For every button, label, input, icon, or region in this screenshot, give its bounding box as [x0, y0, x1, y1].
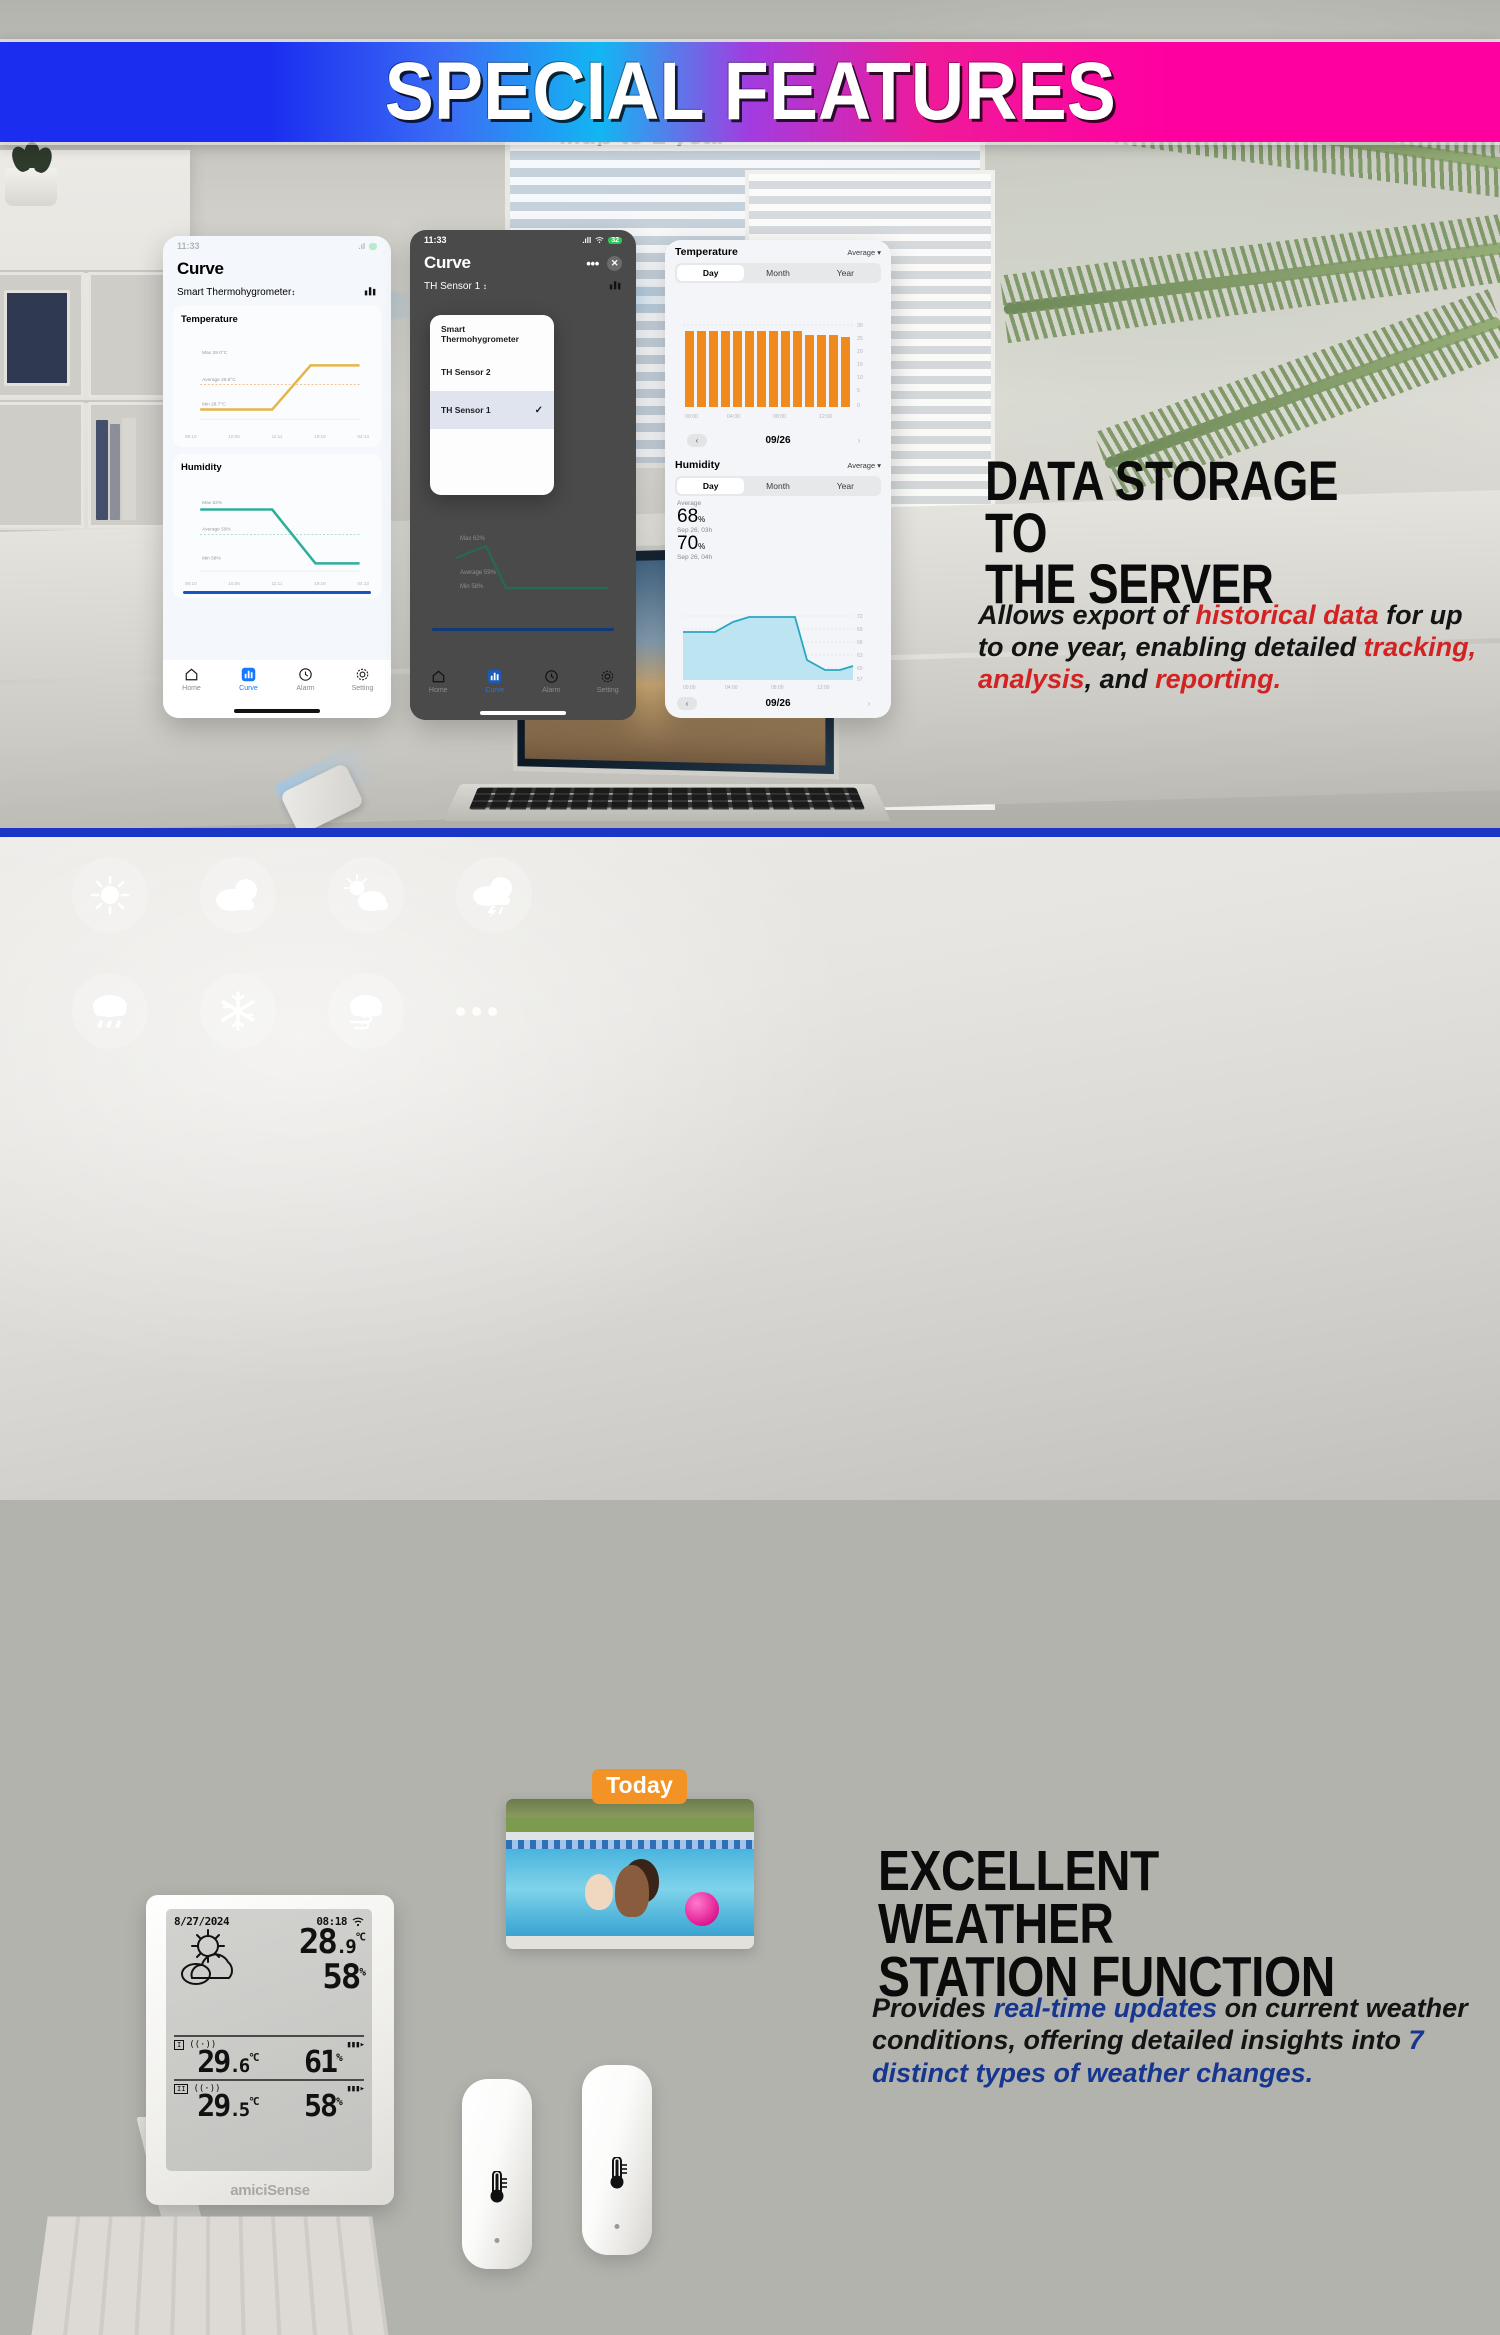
- banner-title: SPECIAL FEATURES: [384, 45, 1115, 139]
- sensor-dropdown-menu[interactable]: Smart Thermohygrometer TH Sensor 2 TH Se…: [430, 315, 554, 495]
- status-time: 11:33: [424, 235, 447, 245]
- tab-home[interactable]: Home: [415, 669, 461, 694]
- wifi-icon: [595, 236, 604, 244]
- humidity-stats-panel: Humidity Average ▾ Day Month Year: [665, 453, 891, 496]
- svg-text:72: 72: [857, 614, 863, 620]
- gear-icon: [355, 667, 370, 682]
- status-icons: .ıll 32: [582, 236, 622, 245]
- ellipsis-icon: [456, 973, 497, 1049]
- svg-text:0: 0: [857, 403, 860, 409]
- humidity-average-caption: Average: [677, 500, 879, 507]
- lcd-channel2-block: II ((·)) ▮▮▮▸ 29.5°C 58%: [174, 2079, 364, 2120]
- svg-text:10: 10: [857, 375, 863, 381]
- next-day-button[interactable]: ›: [859, 697, 879, 710]
- dropdown-item-label: TH Sensor 1: [441, 405, 491, 415]
- channel-2-icon: II: [174, 2084, 188, 2094]
- channel1-humidity: 61%: [304, 2050, 341, 2076]
- status-led: [495, 2238, 500, 2243]
- battery-icon: ▮▮▮▸: [346, 2040, 364, 2050]
- home-indicator: [234, 709, 320, 713]
- temperature-card: Temperature Max 29.0°C Average 28.8°C Mi…: [173, 306, 381, 447]
- section-divider: [0, 828, 1500, 837]
- check-icon: ✓: [535, 405, 543, 416]
- indoor-temperature: 28.9°C: [299, 1928, 364, 1957]
- hum-x-tick: 10:06: [228, 581, 240, 586]
- temp-x-tick: 10:06: [228, 434, 240, 439]
- alarm-icon: [544, 669, 559, 684]
- svg-text:69: 69: [857, 627, 863, 633]
- remote-sensor-unit: [582, 2065, 652, 2255]
- channel2-humidity: 58%: [304, 2094, 341, 2120]
- segment-month[interactable]: Month: [744, 478, 811, 494]
- page-title-row: Curve ••• ✕: [410, 247, 636, 275]
- channel-1-icon: I: [174, 2040, 184, 2050]
- temp-avg-label: Average 28.8°C: [202, 377, 236, 383]
- svg-text:04:00: 04:00: [725, 685, 738, 691]
- bottom-body-p1: Provides: [872, 1993, 994, 2023]
- potted-plant: [5, 168, 57, 206]
- status-led: [615, 2224, 620, 2229]
- humidity-card: Humidity Max 62% Average 59% Min 58% 08:…: [173, 454, 381, 599]
- indoor-humidity: 58%: [299, 1963, 364, 1992]
- dropdown-item-th-sensor-2[interactable]: TH Sensor 2: [430, 353, 554, 391]
- chart-icon: [487, 669, 502, 684]
- device-selector-row: Smart Thermohygrometer↕: [163, 281, 391, 306]
- svg-text:15: 15: [857, 362, 863, 368]
- brand-logo: amiciSense: [146, 2182, 394, 2199]
- humidity-average-time: Sep 26, 03h: [677, 527, 879, 534]
- tab-label: Curve: [239, 685, 258, 692]
- svg-text:08:00: 08:00: [773, 414, 786, 420]
- hum-x-tick: 19:18: [314, 581, 326, 586]
- prev-day-button[interactable]: ‹: [677, 697, 697, 710]
- phone-screenshot-statistics: Temperature Average ▾ Day Month Year: [665, 240, 891, 718]
- humidity-label: Humidity: [181, 462, 373, 473]
- humidity-current-time: Sep 26, 04h: [677, 554, 879, 561]
- rainy-icon: [72, 973, 148, 1049]
- svg-text:08:00: 08:00: [771, 685, 784, 691]
- special-features-banner: SPECIAL FEATURES: [0, 42, 1500, 142]
- sun-behind-cloud-icon: [174, 1928, 260, 1990]
- temperature-bar-chart: 302520 15105 0 00:0004:00 08:0012:00: [675, 287, 881, 425]
- snowy-icon: [200, 973, 276, 1049]
- cloudy-icon: [200, 857, 276, 933]
- svg-text:60: 60: [857, 666, 863, 672]
- humidity-current-value: 70%: [677, 534, 879, 554]
- tab-setting[interactable]: Setting: [340, 667, 386, 692]
- tab-label: Home: [182, 685, 201, 692]
- alarm-icon: [298, 667, 313, 682]
- tab-label: Home: [429, 687, 448, 694]
- hum-x-tick: 08:10: [185, 581, 197, 586]
- home-indicator: [480, 711, 566, 715]
- product-feature-page: 11:33 .ıl Curve Smart Thermohygrometer↕ …: [0, 0, 1500, 1500]
- wifi-icon: [352, 1917, 364, 1927]
- lcd-display: 8/27/2024 08:18 28.9°C: [166, 1909, 372, 2171]
- svg-text:04:00: 04:00: [727, 414, 740, 420]
- svg-text:25: 25: [857, 336, 863, 342]
- temp-x-tick: 11:11: [272, 434, 283, 439]
- tab-setting[interactable]: Setting: [585, 669, 631, 694]
- top-body-p3: , and: [1085, 664, 1156, 694]
- next-day-button[interactable]: ›: [849, 434, 869, 447]
- svg-text:30: 30: [857, 323, 863, 329]
- tab-label: Setting: [352, 685, 374, 692]
- bottom-body-hl1: real-time updates: [994, 1993, 1218, 2023]
- dropdown-item-label: Smart Thermohygrometer: [441, 324, 543, 344]
- battery-badge: 32: [608, 237, 622, 244]
- status-bar: 11:33 .ıl: [163, 236, 391, 253]
- segment-day[interactable]: Day: [677, 265, 744, 281]
- remote-sensor-unit: [462, 2079, 532, 2269]
- humidity-date-pager: ‹ 09/26 ›: [665, 693, 891, 710]
- top-heading: DATA STORAGE TO THE SERVER: [985, 455, 1370, 610]
- temperature-date: 09/26: [765, 435, 790, 446]
- hum-x-tick: 04:13: [357, 581, 369, 586]
- status-time: 11:33: [177, 241, 200, 251]
- palm-leaf-decoration: [900, 120, 1500, 410]
- today-badge: Today: [592, 1769, 687, 1804]
- aggregate-dropdown[interactable]: Average ▾: [847, 248, 881, 257]
- svg-text:57: 57: [857, 677, 863, 683]
- temperature-date-pager: ‹ 09/26 ›: [675, 430, 881, 447]
- temp-x-tick: 04:13: [357, 434, 369, 439]
- segment-month[interactable]: Month: [744, 265, 811, 281]
- page-title: Curve: [163, 253, 391, 281]
- temperature-stats-panel: Temperature Average ▾ Day Month Year: [665, 240, 891, 447]
- segment-day[interactable]: Day: [677, 478, 744, 494]
- stone-pedestal: [31, 2216, 388, 2335]
- humidity-date: 09/26: [765, 698, 790, 709]
- tab-alarm[interactable]: Alarm: [283, 667, 329, 692]
- prev-day-button[interactable]: ‹: [687, 434, 707, 447]
- top-body-text: Allows export of historical data for up …: [978, 600, 1478, 696]
- aggregate-dropdown[interactable]: Average ▾: [847, 461, 881, 470]
- top-body-hl3: reporting.: [1155, 664, 1281, 694]
- svg-text:66: 66: [857, 640, 863, 646]
- phone-screenshot-sensor-dropdown: 11:33 .ıll 32 Curve ••• ✕ TH Sensor 1 ↕: [410, 230, 636, 720]
- tab-label: Curve: [485, 687, 504, 694]
- thermometer-icon: [603, 2157, 631, 2191]
- temperature-title: Temperature: [675, 246, 738, 258]
- pool-photo: [506, 1799, 754, 1949]
- hum-avg-label: Average 59%: [202, 526, 231, 532]
- tab-curve[interactable]: Curve: [472, 669, 518, 694]
- svg-text:Average 59%: Average 59%: [460, 570, 497, 576]
- period-segmented-control[interactable]: Day Month Year: [675, 263, 881, 283]
- status-icons: .ıl: [358, 242, 377, 251]
- bottom-body-text: Provides real-time updates on current we…: [872, 1992, 1487, 2089]
- bottom-heading: EXCELLENT WEATHER STATION FUNCTION: [878, 1845, 1348, 2004]
- bar-chart-icon[interactable]: [609, 278, 622, 294]
- device-selector-row: TH Sensor 1 ↕: [410, 275, 636, 300]
- weather-icon-grid: [72, 857, 542, 1089]
- channel1-temperature: 29.6°C: [197, 2050, 257, 2076]
- phone-screenshot-curve-list: 11:33 .ıl Curve Smart Thermohygrometer↕ …: [163, 236, 391, 718]
- weather-station-device: 8/27/2024 08:18 28.9°C: [146, 1895, 394, 2205]
- svg-text:5: 5: [857, 388, 860, 394]
- battery-icon: ▮▮▮▸: [346, 2084, 364, 2094]
- dropdown-item-label: TH Sensor 2: [441, 367, 491, 377]
- period-segmented-control[interactable]: Day Month Year: [675, 476, 881, 496]
- device-selector[interactable]: TH Sensor 1 ↕: [424, 281, 487, 292]
- home-icon: [184, 667, 199, 682]
- device-selector[interactable]: Smart Thermohygrometer↕: [177, 287, 295, 298]
- humidity-line-chart-dim: Max 62% Average 59% Min 58%: [438, 522, 618, 612]
- thermometer-icon: [483, 2171, 511, 2205]
- humidity-title: Humidity: [675, 459, 720, 471]
- lcd-date: 8/27/2024: [174, 1915, 229, 1928]
- svg-text:00:00: 00:00: [683, 685, 696, 691]
- weather-scene-background: 8/27/2024 08:18 28.9°C: [0, 837, 1500, 1500]
- humidity-average-value: 68%: [677, 507, 879, 527]
- temp-min-label: Min 28.7°C: [202, 402, 226, 408]
- tab-label: Alarm: [296, 685, 314, 692]
- svg-text:12:00: 12:00: [819, 414, 832, 420]
- tab-curve[interactable]: Curve: [226, 667, 272, 692]
- bottom-tab-bar: Home Curve Alarm Setting: [410, 662, 636, 720]
- page-title: Curve: [424, 253, 471, 273]
- gear-icon: [600, 669, 615, 684]
- svg-text:63: 63: [857, 653, 863, 659]
- hum-x-tick: 11:11: [272, 581, 283, 586]
- bottom-tab-bar: Home Curve Alarm Setting: [163, 660, 391, 718]
- svg-text:Min 58%: Min 58%: [460, 584, 484, 590]
- temperature-label: Temperature: [181, 314, 373, 325]
- top-body-hl1: historical data: [1196, 600, 1379, 630]
- home-icon: [431, 669, 446, 684]
- temperature-line-chart: Max 29.0°C Average 28.8°C Min 28.7°C: [181, 327, 373, 433]
- hum-min-label: Min 58%: [202, 555, 221, 561]
- close-icon[interactable]: ✕: [607, 256, 622, 271]
- lcd-channel1-block: I ((·)) ▮▮▮▸ 29.6°C 61%: [174, 2035, 364, 2076]
- dropdown-item-th-sensor-1[interactable]: TH Sensor 1 ✓: [430, 391, 554, 429]
- tab-alarm[interactable]: Alarm: [528, 669, 574, 694]
- lcd-indoor-block: 28.9°C 58%: [174, 1928, 364, 2032]
- tab-label: Setting: [597, 687, 619, 694]
- chart-icon: [241, 667, 256, 682]
- dropdown-item-smart-thermohygrometer[interactable]: Smart Thermohygrometer: [430, 315, 554, 353]
- sunny-icon: [72, 857, 148, 933]
- bar-chart-icon[interactable]: [364, 284, 377, 300]
- temp-max-label: Max 29.0°C: [202, 350, 228, 356]
- top-heading-line1: DATA STORAGE TO: [985, 455, 1370, 558]
- svg-text:12:00: 12:00: [817, 685, 830, 691]
- windy-icon: [328, 973, 404, 1049]
- svg-text:20: 20: [857, 349, 863, 355]
- top-body-p1: Allows export of: [978, 600, 1196, 630]
- segment-year[interactable]: Year: [812, 478, 879, 494]
- status-bar: 11:33 .ıll 32: [410, 230, 636, 247]
- channel2-temperature: 29.5°C: [197, 2094, 257, 2120]
- svg-text:00:00: 00:00: [685, 414, 698, 420]
- more-dots-icon[interactable]: •••: [586, 256, 599, 271]
- tab-home[interactable]: Home: [169, 667, 215, 692]
- humidity-readouts: Average 68% Sep 26, 03h 70% Sep 26, 04h: [665, 496, 891, 561]
- svg-text:Max 62%: Max 62%: [460, 536, 486, 542]
- temp-x-tick: 19:18: [314, 434, 326, 439]
- temp-x-tick: 08:10: [185, 434, 197, 439]
- humidity-line-chart: Max 62% Average 59% Min 58%: [181, 475, 373, 581]
- laptop-keyboard: [443, 784, 891, 821]
- partly-cloudy-icon: [328, 857, 404, 933]
- humidity-area-chart: 726966 636057 00:0004:00 08:0012:00: [675, 608, 881, 692]
- thunderstorm-icon: [456, 857, 532, 933]
- hum-max-label: Max 62%: [202, 499, 223, 505]
- segment-year[interactable]: Year: [812, 265, 879, 281]
- bottom-heading-line1: EXCELLENT WEATHER: [878, 1845, 1348, 1951]
- tab-label: Alarm: [542, 687, 560, 694]
